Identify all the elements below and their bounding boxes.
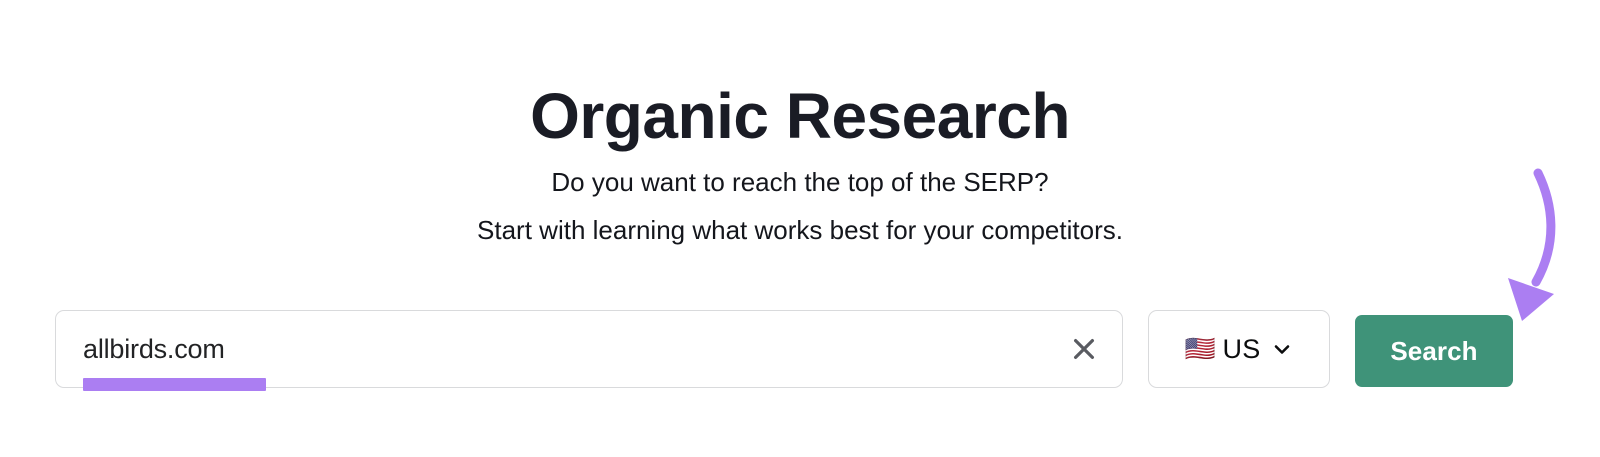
page-subtitle: Do you want to reach the top of the SERP… — [0, 158, 1600, 254]
domain-input[interactable]: allbirds.com — [55, 310, 1123, 388]
page-title: Organic Research — [0, 79, 1600, 153]
search-button[interactable]: Search — [1355, 315, 1513, 387]
page-subtitle-line-2: Start with learning what works best for … — [0, 206, 1600, 254]
us-flag-icon: 🇺🇸 — [1185, 337, 1212, 362]
page-subtitle-line-1: Do you want to reach the top of the SERP… — [0, 158, 1600, 206]
organic-research-search-panel: Organic Research Do you want to reach th… — [0, 0, 1600, 457]
chevron-down-icon — [1271, 338, 1293, 360]
search-form: allbirds.com 🇺🇸 US Search — [55, 310, 1515, 388]
clear-input-button[interactable] — [1064, 329, 1104, 369]
country-select-label: US — [1223, 334, 1261, 364]
country-select[interactable]: 🇺🇸 US — [1148, 310, 1330, 388]
close-icon — [1071, 336, 1097, 362]
domain-input-value[interactable]: allbirds.com — [83, 333, 225, 365]
typed-text-highlight — [83, 378, 266, 391]
